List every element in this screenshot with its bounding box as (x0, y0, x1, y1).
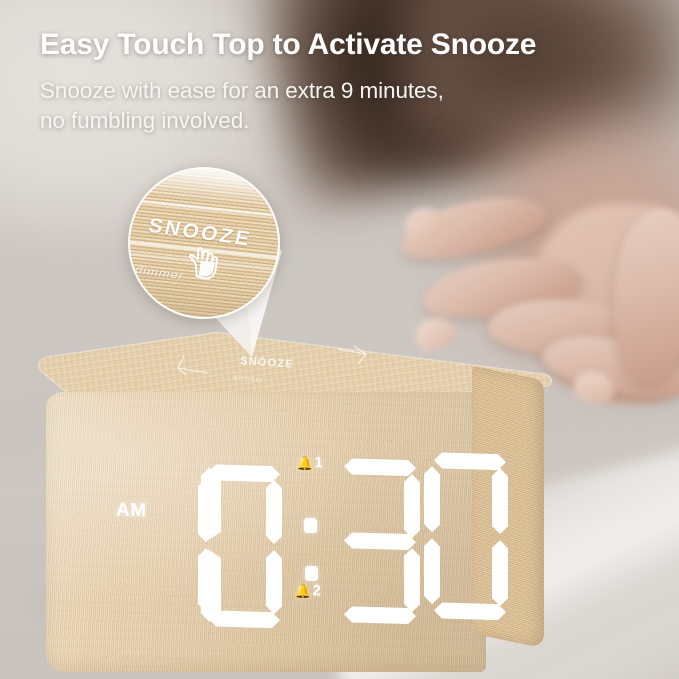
magnified-snooze-detail: SNOOZE dimmer (128, 167, 280, 319)
product-marketing-image: AM (0, 0, 679, 679)
page-title: Easy Touch Top to Activate Snooze (40, 28, 536, 62)
subtitle-line-1: Snooze with ease for an extra 9 minutes, (40, 78, 444, 104)
clock-side-face (472, 366, 544, 649)
clock-front-face (46, 392, 486, 672)
subtitle-line-2: no fumbling involved. (40, 108, 249, 134)
hand-touch-icon (181, 244, 226, 288)
